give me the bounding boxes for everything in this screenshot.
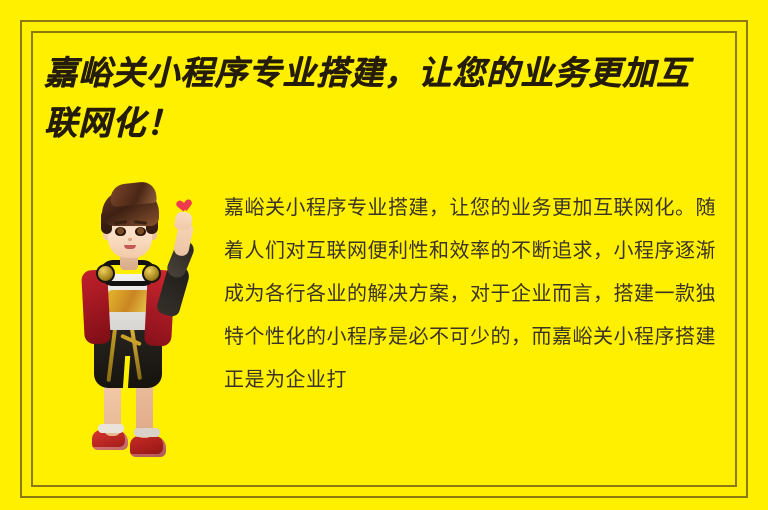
right-eye	[135, 227, 146, 236]
headline-title: 嘉峪关小程序专业搭建，让您的业务更加互联网化！	[44, 48, 716, 148]
tee-graphic-print	[106, 290, 150, 312]
character-illustration	[58, 178, 208, 478]
body-paragraph: 嘉峪关小程序专业搭建，让您的业务更加互联网化。随着人们对互联网便利性和效率的不断…	[224, 186, 716, 401]
promo-banner: 嘉峪关小程序专业搭建，让您的业务更加互联网化！	[0, 0, 768, 510]
headphone-earcup-right	[142, 264, 161, 283]
heart-icon	[179, 199, 194, 214]
right-sock	[134, 428, 160, 437]
left-sock	[98, 424, 124, 433]
finger-heart-hand	[174, 211, 193, 231]
nose	[128, 238, 132, 241]
left-eye	[115, 227, 126, 236]
headphone-earcup-left	[96, 264, 115, 283]
right-shoe	[130, 436, 166, 457]
